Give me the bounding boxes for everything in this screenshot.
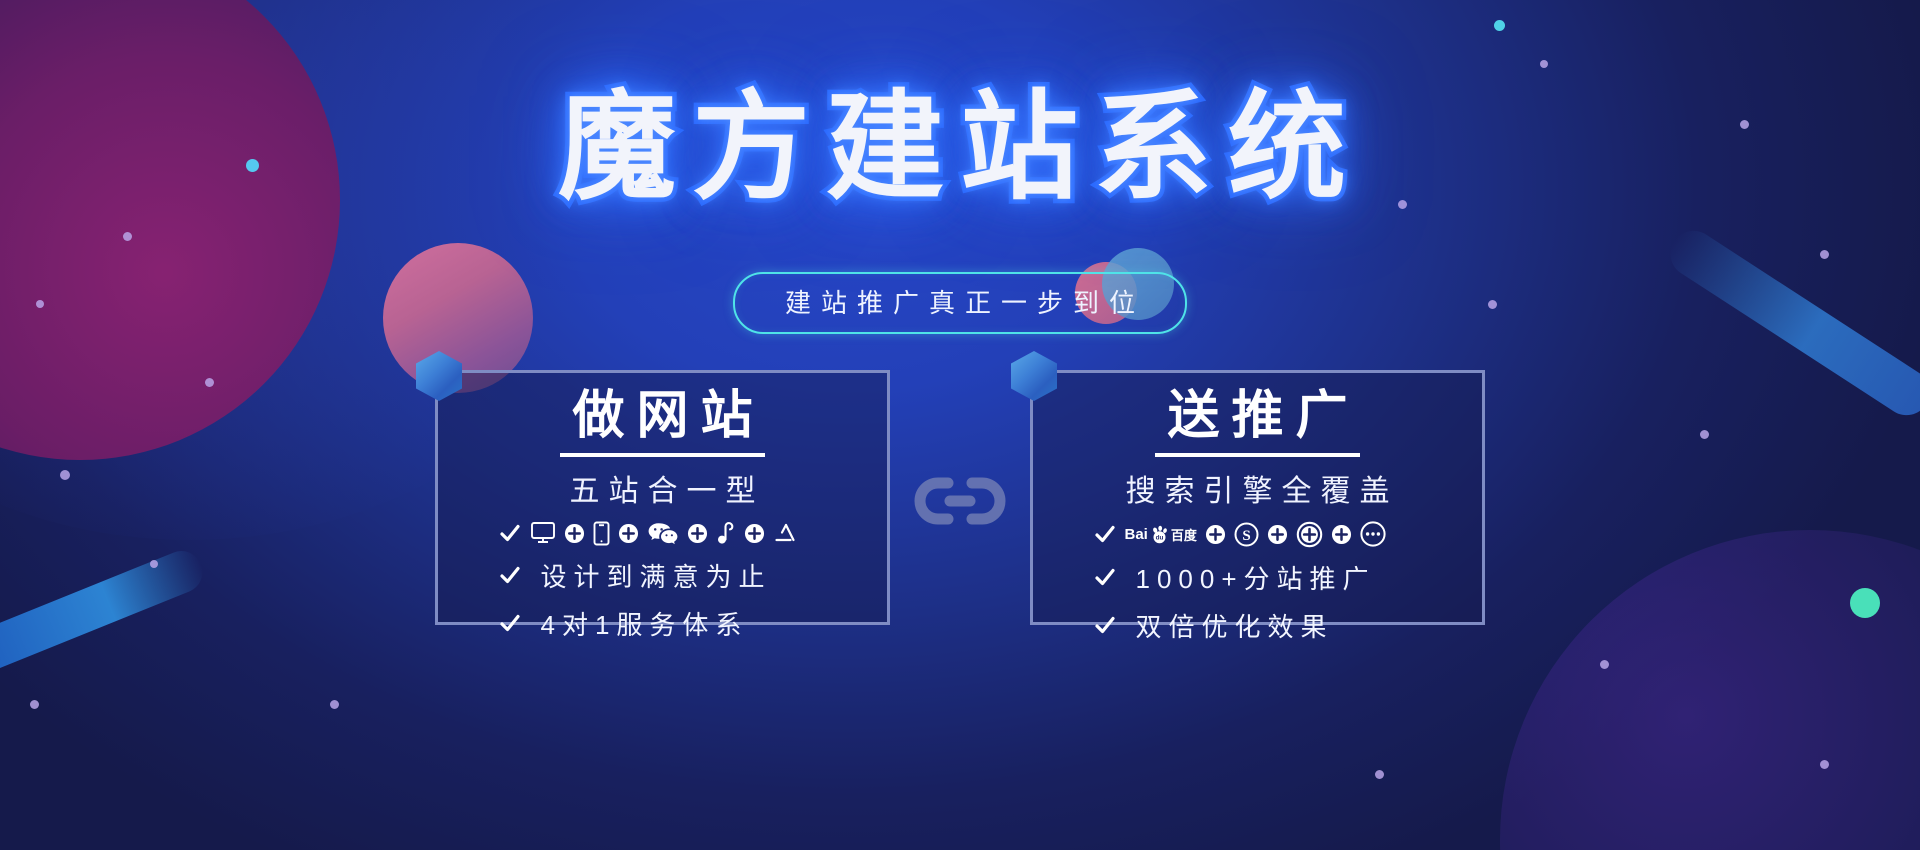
check-icon bbox=[498, 521, 522, 545]
plus-icon bbox=[1331, 524, 1352, 545]
plus-icon bbox=[564, 523, 585, 544]
decor-dot-cyan-right bbox=[1494, 20, 1505, 31]
headline-container: 魔方建站系统 bbox=[0, 86, 1920, 210]
baidu-logo: Bai du 百度 bbox=[1125, 525, 1197, 544]
check-icon bbox=[498, 611, 522, 635]
plus-icon bbox=[1205, 524, 1226, 545]
svg-text:S: S bbox=[1242, 528, 1250, 544]
360-search-icon bbox=[1296, 521, 1323, 548]
decor-star bbox=[1375, 770, 1384, 779]
app-store-icon bbox=[773, 521, 799, 546]
panel-feature-row: 设计到满意为止 bbox=[498, 557, 828, 594]
panel-feature-row: 4对1服务体系 bbox=[498, 605, 828, 642]
panel-free-promotion[interactable]: 送推广 搜索引擎全覆盖 Bai du bbox=[1030, 370, 1485, 625]
check-icon bbox=[1093, 522, 1117, 546]
feature-substations: 1000+分站推广 bbox=[1129, 559, 1376, 596]
plus-icon bbox=[687, 523, 708, 544]
check-icon bbox=[1093, 565, 1117, 589]
panel-feature-row: 双倍优化效果 bbox=[1093, 607, 1423, 644]
decor-star bbox=[1820, 250, 1829, 259]
mobile-phone-icon bbox=[593, 521, 610, 546]
panel-title: 做网站 bbox=[560, 387, 764, 457]
svg-text:du: du bbox=[1155, 534, 1163, 541]
wechat-icon bbox=[647, 521, 679, 546]
feature-service: 4对1服务体系 bbox=[534, 605, 749, 642]
decor-star bbox=[1600, 660, 1609, 669]
decor-star bbox=[123, 232, 132, 241]
panel-subtitle: 搜索引擎全覆盖 bbox=[1117, 466, 1399, 510]
panel-make-website[interactable]: 做网站 五站合一型 bbox=[435, 370, 890, 625]
baidu-paw-icon: du bbox=[1150, 525, 1169, 544]
plus-icon bbox=[1267, 524, 1288, 545]
sogou-icon: S bbox=[1234, 522, 1259, 547]
more-ellipsis-icon bbox=[1360, 521, 1386, 547]
check-icon bbox=[1093, 613, 1117, 637]
plus-icon bbox=[618, 523, 639, 544]
promo-banner: 魔方建站系统 建站推广真正一步到位 做网站 五站合一型 bbox=[0, 0, 1920, 850]
check-icon bbox=[498, 563, 522, 587]
baidu-text-cn: 百度 bbox=[1171, 525, 1197, 544]
douyin-music-note-icon bbox=[716, 521, 736, 546]
feature-design: 设计到满意为止 bbox=[534, 557, 772, 594]
subtitle-pill: 建站推广真正一步到位 bbox=[733, 272, 1187, 334]
decor-star bbox=[30, 700, 39, 709]
panel-icon-row: Bai du 百度 bbox=[1093, 521, 1423, 548]
decor-star bbox=[330, 700, 339, 709]
panel-icon-row bbox=[498, 521, 828, 546]
panels-row: 做网站 五站合一型 bbox=[0, 370, 1920, 625]
desktop-pc-icon bbox=[530, 521, 556, 545]
plus-icon bbox=[744, 523, 765, 544]
subtitle-container: 建站推广真正一步到位 bbox=[0, 272, 1920, 334]
decor-star bbox=[1820, 760, 1829, 769]
feature-optimization: 双倍优化效果 bbox=[1129, 607, 1334, 644]
decor-star bbox=[1540, 60, 1548, 68]
panel-subtitle: 五站合一型 bbox=[561, 466, 765, 510]
panel-title: 送推广 bbox=[1155, 387, 1359, 457]
panel-feature-row: 1000+分站推广 bbox=[1093, 559, 1423, 596]
baidu-text-en: Bai bbox=[1125, 526, 1148, 543]
page-title: 魔方建站系统 bbox=[558, 86, 1362, 210]
